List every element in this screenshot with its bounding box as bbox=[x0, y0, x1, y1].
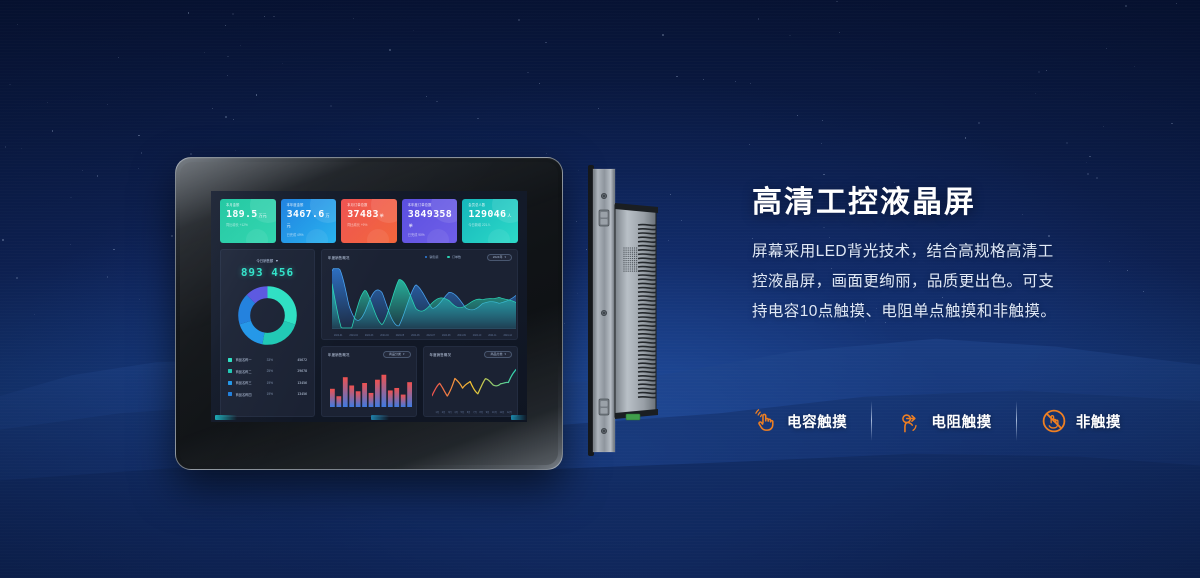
speaker-hole bbox=[628, 252, 629, 253]
speaker-hole bbox=[630, 266, 631, 267]
x-axis-tick: 2024-03 bbox=[365, 335, 373, 337]
speaker-hole bbox=[630, 249, 631, 250]
legend-item-percent: 25% bbox=[267, 369, 287, 373]
legend-label: 销售额 bbox=[429, 255, 438, 259]
speaker-hole bbox=[634, 256, 635, 257]
legend-color-swatch bbox=[228, 392, 232, 396]
side-view-svg bbox=[586, 163, 691, 458]
speaker-hole bbox=[632, 247, 633, 248]
chevron-down-icon[interactable]: ▼ bbox=[275, 259, 278, 263]
heatsink-fin bbox=[638, 338, 656, 339]
speaker-hole bbox=[636, 264, 637, 265]
bar-9 bbox=[381, 375, 386, 407]
heatsink-fin bbox=[638, 384, 656, 385]
speaker-hole bbox=[625, 266, 626, 267]
feature-item-1[interactable]: 电容触摸 bbox=[752, 408, 847, 434]
speaker-hole bbox=[628, 254, 629, 255]
heatsink-fin bbox=[638, 262, 656, 263]
capacitive-touch-icon bbox=[752, 408, 778, 434]
taskbar-chip-2[interactable] bbox=[371, 415, 389, 420]
speaker-hole bbox=[628, 268, 629, 269]
kpi-card-5[interactable]: 会员总人数129046人今日新增 221人 bbox=[462, 199, 518, 243]
speaker-hole bbox=[625, 247, 626, 248]
speaker-hole bbox=[625, 249, 626, 250]
speaker-hole bbox=[636, 256, 637, 257]
speaker-hole bbox=[623, 256, 624, 257]
speaker-hole bbox=[630, 258, 631, 259]
legend-item-percent: 19% bbox=[267, 381, 287, 385]
heatsink-fin bbox=[638, 254, 656, 255]
x-axis-tick: 2024-05 bbox=[396, 335, 404, 337]
speaker-hole bbox=[625, 256, 626, 257]
speaker-hole bbox=[636, 270, 637, 271]
donut-panel-header[interactable]: 今日销售额 ▼ bbox=[256, 258, 278, 263]
kpi-unit: 单 bbox=[409, 223, 413, 228]
speaker-hole bbox=[630, 252, 631, 253]
x-axis-tick: 2024-07 bbox=[427, 335, 435, 337]
heatsink-fin bbox=[638, 346, 656, 347]
legend-dot bbox=[447, 256, 450, 259]
speaker-hole bbox=[628, 247, 629, 248]
chevron-down-icon: ▾ bbox=[403, 352, 405, 356]
kpi-decoration-circle bbox=[367, 229, 389, 243]
heatsink-fin bbox=[638, 279, 656, 280]
heatsink-fin bbox=[638, 393, 656, 394]
heatsink-fin bbox=[638, 372, 656, 373]
legend-label: 订单数 bbox=[452, 255, 461, 259]
taskbar-chip-1[interactable] bbox=[215, 415, 237, 420]
feature-item-2[interactable]: 电阻触摸 bbox=[896, 408, 991, 434]
speaker-hole bbox=[632, 260, 633, 261]
legend-color-swatch bbox=[228, 381, 232, 385]
speaker-hole bbox=[636, 247, 637, 248]
donut-legend-row[interactable]: 商品名称二25%29678 bbox=[228, 366, 307, 378]
speaker-hole bbox=[632, 268, 633, 269]
speaker-hole bbox=[634, 262, 635, 263]
speaker-hole bbox=[623, 252, 624, 253]
kpi-decoration-circle bbox=[246, 229, 268, 243]
speaker-hole bbox=[634, 247, 635, 248]
heatsink-fin bbox=[638, 283, 656, 284]
heatsink-fin bbox=[638, 288, 656, 289]
heatsink-fin bbox=[638, 330, 656, 331]
speaker-hole bbox=[632, 256, 633, 257]
kpi-subtext: 今日新增 221人 bbox=[468, 224, 512, 227]
legend-color-swatch bbox=[228, 369, 232, 373]
donut-chart bbox=[236, 284, 299, 347]
x-axis-tick: 2024-01 bbox=[334, 335, 342, 337]
page-title: 高清工控液晶屏 bbox=[752, 186, 1172, 219]
kpi-card-3[interactable]: 本月订单总数37483单同比增长 +9% bbox=[341, 199, 397, 243]
heatsink-fin bbox=[638, 388, 656, 389]
x-axis-tick: 2024-09 bbox=[457, 335, 465, 337]
kpi-card-2[interactable]: 本年度金额3467.6万元已完成 49% bbox=[281, 199, 337, 243]
line-series-path bbox=[432, 370, 516, 396]
speaker-hole bbox=[630, 254, 631, 255]
legend-item-name: 商品名称三 bbox=[236, 380, 267, 385]
heatsink-fin bbox=[638, 300, 656, 301]
bar-12 bbox=[401, 395, 406, 407]
chevron-down-icon: ▾ bbox=[504, 352, 506, 356]
speaker-hole bbox=[632, 252, 633, 253]
heatsink-fin bbox=[638, 267, 656, 268]
x-axis-tick: 2024-04 bbox=[380, 335, 388, 337]
kpi-decoration-circle bbox=[427, 229, 449, 243]
dashboard-bottom-row: 年度销售概况 商品分类 ▾ 年度销售概况 商品分类 ▾ bbox=[321, 346, 518, 417]
donut-legend-table: 商品名称一33%45672商品名称二25%29678商品名称三19%13456商… bbox=[221, 347, 314, 400]
speaker-hole bbox=[636, 252, 637, 253]
legend-item-name: 商品名称一 bbox=[236, 357, 267, 362]
bar-13 bbox=[407, 382, 412, 407]
heatsink-fin bbox=[638, 241, 656, 242]
speaker-hole bbox=[632, 249, 633, 250]
speaker-hole bbox=[625, 262, 626, 263]
speaker-hole bbox=[625, 252, 626, 253]
legend-color-swatch bbox=[228, 358, 232, 362]
legend-item-percent: 33% bbox=[267, 358, 287, 362]
side-green-terminal-connector bbox=[626, 414, 640, 420]
kpi-card-4[interactable]: 本年度订单总数3849358单已完成 90% bbox=[402, 199, 458, 243]
area-legend-item[interactable]: 销售额 bbox=[425, 255, 439, 259]
line-chart-title: 年度销售概况 bbox=[430, 352, 452, 357]
legend-item-name: 商品名称二 bbox=[236, 369, 267, 374]
speaker-hole bbox=[623, 262, 624, 263]
speaker-hole bbox=[632, 264, 633, 265]
heatsink-fin bbox=[638, 317, 656, 318]
area-chart-svg bbox=[332, 267, 516, 329]
area-chart-title: 年度销售概况 bbox=[328, 255, 350, 260]
x-axis-tick: 2024-11 bbox=[488, 335, 496, 337]
heatsink-fin bbox=[638, 342, 656, 343]
speaker-hole bbox=[634, 264, 635, 265]
speaker-hole bbox=[625, 264, 626, 265]
product-copy: 高清工控液晶屏 屏幕采用LED背光技术，结合高规格高清工控液晶屏，画面更绚丽，品… bbox=[752, 186, 1172, 326]
speaker-hole bbox=[630, 264, 631, 265]
speaker-hole bbox=[636, 260, 637, 261]
feature-label: 电阻触摸 bbox=[931, 411, 991, 432]
side-button-upper bbox=[599, 210, 609, 226]
bar-10 bbox=[388, 390, 393, 407]
feature-label: 非触摸 bbox=[1076, 411, 1121, 432]
heatsink-fin bbox=[638, 351, 656, 352]
heatsink-fin bbox=[638, 321, 656, 322]
speaker-hole bbox=[623, 268, 624, 269]
heatsink-fin bbox=[638, 355, 656, 356]
dashboard-right-column: 年度销售概况 销售额订单数 2024年 ▾ 2024-012024-022024… bbox=[321, 249, 518, 417]
heatsink-fin bbox=[638, 229, 656, 230]
category-bar-panel: 年度销售概况 商品分类 ▾ bbox=[321, 346, 417, 417]
heatsink-fin bbox=[638, 258, 656, 259]
feature-item-3[interactable]: 非触摸 bbox=[1041, 408, 1121, 434]
heatsink-fin bbox=[638, 304, 656, 305]
heatsink-fin bbox=[638, 334, 656, 335]
speaker-hole bbox=[632, 262, 633, 263]
heatsink-fin bbox=[638, 275, 656, 276]
sales-donut-panel: 今日销售额 ▼ 893 456 商品名称一33%45672商品名称二25%296… bbox=[220, 249, 315, 417]
speaker-hole bbox=[623, 254, 624, 255]
speaker-hole bbox=[634, 266, 635, 267]
speaker-hole bbox=[630, 256, 631, 257]
kpi-card-row: 本月金额189.5万元同比增长 +12%本年度金额3467.6万元已完成 49%… bbox=[220, 199, 518, 243]
heatsink-fin bbox=[638, 359, 656, 360]
speaker-hole bbox=[625, 270, 626, 271]
heatsink-fin bbox=[638, 292, 656, 293]
industrial-panel-monitor-front: 本月金额189.5万元同比增长 +12%本年度金额3467.6万元已完成 49%… bbox=[175, 157, 563, 470]
speaker-hole bbox=[630, 268, 631, 269]
speaker-hole bbox=[623, 247, 624, 248]
speaker-hole bbox=[634, 252, 635, 253]
line-chart-svg bbox=[432, 363, 516, 403]
donut-total-value: 893 456 bbox=[241, 266, 294, 279]
speaker-hole bbox=[625, 254, 626, 255]
legend-item-percent: 19% bbox=[267, 392, 287, 396]
legend-item-value: 13456 bbox=[297, 381, 307, 385]
product-description: 屏幕采用LED背光技术，结合高规格高清工控液晶屏，画面更绚丽，品质更出色。可支持… bbox=[752, 237, 1064, 326]
annual-sales-area-panel: 年度销售概况 销售额订单数 2024年 ▾ 2024-012024-022024… bbox=[321, 249, 518, 340]
dashboard-left-column: 今日销售额 ▼ 893 456 商品名称一33%45672商品名称二25%296… bbox=[220, 249, 315, 417]
speaker-hole bbox=[634, 260, 635, 261]
legend-dot bbox=[425, 256, 428, 259]
area-dropdown-label: 2024年 bbox=[493, 255, 503, 259]
kpi-decoration-circle bbox=[488, 229, 510, 243]
feature-divider bbox=[1016, 401, 1017, 441]
speaker-hole bbox=[636, 262, 637, 263]
donut-legend-row[interactable]: 商品名称一33%45672 bbox=[228, 354, 307, 366]
donut-legend-row[interactable]: 商品名称四19%13456 bbox=[228, 389, 307, 401]
speaker-hole bbox=[623, 249, 624, 250]
speaker-hole bbox=[628, 270, 629, 271]
speaker-hole bbox=[623, 260, 624, 261]
bar-chart-svg bbox=[330, 363, 412, 407]
resistive-touch-icon bbox=[896, 408, 922, 434]
area-chart-x-axis: 2024-012024-022024-032024-042024-052024-… bbox=[334, 335, 512, 337]
heatsink-fin bbox=[638, 233, 656, 234]
heatsink-fin bbox=[638, 296, 656, 297]
bar-11 bbox=[394, 388, 399, 407]
x-axis-tick: 2024-12 bbox=[503, 335, 511, 337]
speaker-hole bbox=[632, 266, 633, 267]
taskbar-chip-3[interactable] bbox=[511, 415, 527, 420]
area-legend-item[interactable]: 订单数 bbox=[447, 255, 461, 259]
speaker-hole bbox=[623, 264, 624, 265]
heatsink-fin bbox=[638, 367, 656, 368]
bar-dropdown-label: 商品分类 bbox=[389, 352, 401, 356]
feature-label: 电容触摸 bbox=[787, 411, 847, 432]
speaker-hole bbox=[632, 258, 633, 259]
speaker-hole bbox=[628, 266, 629, 267]
heatsink-fin bbox=[638, 363, 656, 364]
heatsink-fin bbox=[638, 271, 656, 272]
heatsink-fin bbox=[638, 313, 656, 314]
heatsink-fin bbox=[638, 397, 656, 398]
area-chart-legend: 销售额订单数 bbox=[425, 255, 461, 259]
speaker-hole bbox=[628, 264, 629, 265]
legend-item-value: 29678 bbox=[297, 369, 307, 373]
speaker-hole bbox=[630, 247, 631, 248]
bar-chart-title: 年度销售概况 bbox=[328, 352, 350, 357]
category-line-panel: 年度销售概况 商品分类 ▾ 1月2月3月4月5月6月7月8月9月10月11月12… bbox=[423, 346, 519, 417]
bar-4 bbox=[349, 385, 354, 407]
heatsink-fin bbox=[638, 376, 656, 377]
feature-divider bbox=[871, 401, 872, 441]
kpi-subtext: 同比增长 +9% bbox=[347, 224, 391, 227]
heatsink-fin bbox=[638, 225, 656, 226]
x-axis-tick: 2024-08 bbox=[442, 335, 450, 337]
speaker-hole bbox=[634, 254, 635, 255]
speaker-hole bbox=[636, 268, 637, 269]
donut-legend-row[interactable]: 商品名称三19%13456 bbox=[228, 377, 307, 389]
dashboard-taskbar bbox=[211, 413, 527, 422]
line-chart-category-dropdown[interactable]: 商品分类 ▾ bbox=[484, 351, 512, 358]
legend-item-value: 13456 bbox=[297, 392, 307, 396]
dashboard: 本月金额189.5万元同比增长 +12%本年度金额3467.6万元已完成 49%… bbox=[211, 191, 527, 422]
speaker-hole bbox=[628, 260, 629, 261]
bar-5 bbox=[356, 391, 361, 407]
heatsink-fin bbox=[638, 380, 656, 381]
legend-item-value: 45672 bbox=[297, 358, 307, 362]
speaker-hole bbox=[625, 258, 626, 259]
donut-panel-title: 今日销售额 bbox=[256, 258, 273, 263]
speaker-hole bbox=[630, 260, 631, 261]
no-touch-icon bbox=[1041, 408, 1067, 434]
speaker-hole bbox=[636, 258, 637, 259]
speaker-hole bbox=[636, 266, 637, 267]
feature-list: 电容触摸电阻触摸非触摸 bbox=[752, 400, 1121, 442]
bar-3 bbox=[343, 377, 348, 407]
speaker-hole bbox=[623, 258, 624, 259]
line-dropdown-label: 商品分类 bbox=[490, 352, 502, 356]
speaker-hole bbox=[634, 270, 635, 271]
side-button-lower bbox=[599, 399, 609, 415]
kpi-decoration-circle bbox=[306, 229, 328, 243]
industrial-panel-monitor-side-view bbox=[586, 163, 691, 458]
speaker-hole bbox=[628, 258, 629, 259]
speaker-hole bbox=[628, 256, 629, 257]
kpi-subtext: 同比增长 +12% bbox=[226, 224, 270, 227]
area-chart-year-dropdown[interactable]: 2024年 ▾ bbox=[487, 254, 512, 261]
chevron-down-icon: ▾ bbox=[504, 255, 506, 259]
bar-1 bbox=[330, 389, 335, 407]
dashboard-body: 今日销售额 ▼ 893 456 商品名称一33%45672商品名称二25%296… bbox=[220, 249, 518, 417]
monitor-screen: 本月金额189.5万元同比增长 +12%本年度金额3467.6万元已完成 49%… bbox=[211, 191, 527, 422]
x-axis-tick: 2024-10 bbox=[473, 335, 481, 337]
bar-6 bbox=[362, 383, 367, 407]
speaker-hole bbox=[636, 254, 637, 255]
x-axis-tick: 2024-02 bbox=[349, 335, 357, 337]
legend-item-name: 商品名称四 bbox=[236, 392, 267, 397]
speaker-hole bbox=[628, 249, 629, 250]
speaker-hole bbox=[628, 262, 629, 263]
bar-chart-category-dropdown[interactable]: 商品分类 ▾ bbox=[383, 351, 411, 358]
heatsink-fin bbox=[638, 325, 656, 326]
speaker-hole bbox=[634, 258, 635, 259]
speaker-hole bbox=[625, 268, 626, 269]
speaker-hole bbox=[632, 254, 633, 255]
speaker-hole bbox=[632, 270, 633, 271]
speaker-hole bbox=[630, 270, 631, 271]
heatsink-fin bbox=[638, 246, 656, 247]
speaker-hole bbox=[636, 249, 637, 250]
heatsink-fin bbox=[638, 309, 656, 310]
speaker-hole bbox=[623, 270, 624, 271]
speaker-hole bbox=[625, 260, 626, 261]
speaker-hole bbox=[623, 266, 624, 267]
donut-chart-svg bbox=[236, 284, 299, 347]
bar-7 bbox=[369, 393, 374, 407]
speaker-hole bbox=[634, 268, 635, 269]
x-axis-tick: 2024-06 bbox=[411, 335, 419, 337]
bar-8 bbox=[375, 380, 380, 407]
heatsink-fin bbox=[638, 250, 656, 251]
heatsink-fin bbox=[638, 237, 656, 238]
kpi-card-1[interactable]: 本月金额189.5万元同比增长 +12% bbox=[220, 199, 276, 243]
speaker-hole bbox=[630, 262, 631, 263]
bar-2 bbox=[336, 396, 341, 407]
speaker-hole bbox=[634, 249, 635, 250]
